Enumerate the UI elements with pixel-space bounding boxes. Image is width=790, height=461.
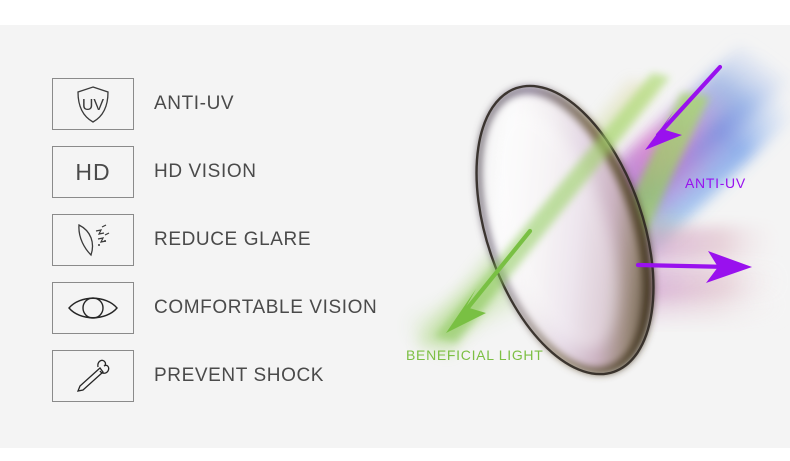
glare-shard-icon xyxy=(52,214,134,266)
feature-list: UV ANTI-UV HD HD VISION xyxy=(52,78,432,418)
feature-row[interactable]: HD HD VISION xyxy=(52,146,432,198)
feature-label: PREVENT SHOCK xyxy=(154,365,324,387)
feature-label: ANTI-UV xyxy=(154,93,234,115)
hammer-icon xyxy=(52,350,134,402)
hd-icon-text: HD xyxy=(75,159,110,186)
infographic-page: UV ANTI-UV HD HD VISION xyxy=(0,0,790,461)
beneficial-light-beam-label: BENEFICIAL LIGHT xyxy=(406,347,544,363)
feature-row[interactable]: REDUCE GLARE xyxy=(52,214,432,266)
feature-label: COMFORTABLE VISION xyxy=(154,297,377,319)
feature-label: REDUCE GLARE xyxy=(154,229,311,251)
feature-row[interactable]: PREVENT SHOCK xyxy=(52,350,432,402)
feature-row[interactable]: COMFORTABLE VISION xyxy=(52,282,432,334)
lens-light-diagram: ANTI-UV BENEFICIAL LIGHT xyxy=(390,25,790,448)
uv-shield-icon: UV xyxy=(52,78,134,130)
feature-label: HD VISION xyxy=(154,161,257,183)
hd-text-icon: HD xyxy=(52,146,134,198)
feature-row[interactable]: UV ANTI-UV xyxy=(52,78,432,130)
lens-diagram-svg xyxy=(390,25,790,448)
uv-icon-text: UV xyxy=(82,97,105,114)
eye-icon xyxy=(52,282,134,334)
anti-uv-beam-label: ANTI-UV xyxy=(685,175,746,191)
